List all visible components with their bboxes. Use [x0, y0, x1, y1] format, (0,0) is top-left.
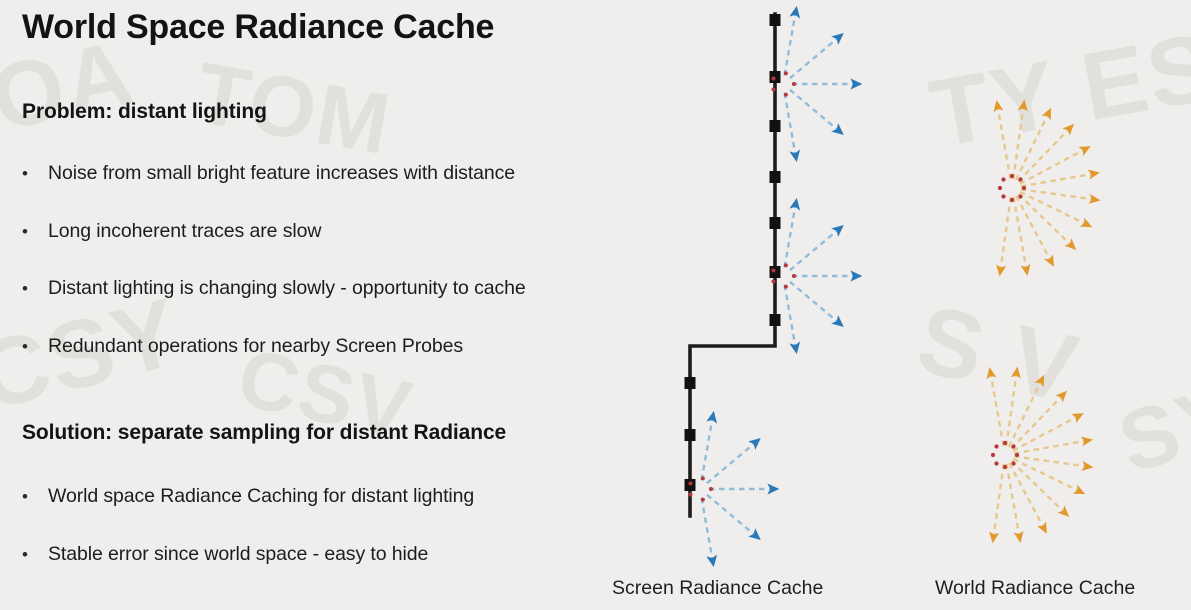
probe-dot [784, 93, 788, 97]
probe-dot [688, 482, 692, 486]
screen-radiance-ray [790, 34, 843, 78]
probe-dot [1018, 177, 1022, 181]
probe-dot [994, 444, 998, 448]
probe-dot [1003, 441, 1007, 445]
screen-radiance-ray [785, 199, 797, 267]
probe-dot [1001, 177, 1005, 181]
probe-dot [792, 82, 796, 86]
screen-radiance-ray [790, 90, 843, 134]
probe-dot [701, 498, 705, 502]
probe-dot [998, 186, 1002, 190]
world-radiance-ray [1011, 461, 1068, 516]
wall-outline [690, 14, 775, 516]
radiance-cache-diagram [0, 0, 1191, 610]
probe-dot [771, 280, 775, 284]
world-radiance-ray [997, 101, 1011, 179]
probe-dot [792, 274, 796, 278]
probe-dot [1010, 198, 1014, 202]
probe-dot [1010, 174, 1014, 178]
screen-radiance-ray [785, 285, 797, 353]
screen-radiance-ray [790, 282, 843, 326]
wall-probe-marker [770, 266, 781, 278]
probe-dot [784, 71, 788, 75]
probe-dot [771, 88, 775, 92]
wall-probe-marker [685, 429, 696, 441]
slide-root: OA TOM CSY CSV TY ES S V SY World Space … [0, 0, 1191, 610]
world-radiance-ray [1014, 197, 1028, 275]
probe-dot [1022, 186, 1026, 190]
caption-world-radiance-cache: World Radiance Cache [935, 577, 1135, 600]
wall-probe-marker [770, 120, 781, 132]
screen-radiance-ray [785, 93, 797, 161]
probe-dot [1015, 453, 1019, 457]
probe-dot [991, 453, 995, 457]
probe-dot [1011, 461, 1015, 465]
screen-radiance-ray [702, 412, 714, 480]
probe-dot [784, 263, 788, 267]
world-radiance-ray [1011, 392, 1066, 449]
world-radiance-ray [1021, 173, 1099, 187]
world-radiance-ray [1018, 125, 1073, 182]
screen-radiance-ray [707, 439, 760, 483]
caption-screen-radiance-cache: Screen Radiance Cache [612, 577, 823, 600]
wall-probe-marker [770, 14, 781, 26]
screen-radiance-ray [707, 495, 760, 539]
probe-dot [1001, 194, 1005, 198]
probe-dot [1011, 444, 1015, 448]
probe-dot [1003, 465, 1007, 469]
world-radiance-ray [1007, 464, 1021, 542]
screen-radiance-ray [785, 7, 797, 75]
probe-dot [994, 461, 998, 465]
wall-probe-marker [770, 171, 781, 183]
probe-dot [688, 493, 692, 497]
probe-dots [688, 71, 1026, 501]
world-radiance-ray [990, 368, 1004, 446]
probe-dot [1018, 194, 1022, 198]
world-radiance-ray [1000, 197, 1011, 275]
wall-probe-marker [770, 314, 781, 326]
wall-probe-marker [685, 377, 696, 389]
screen-radiance-ray [702, 498, 714, 566]
probe-dot [771, 269, 775, 273]
probe-dot [784, 285, 788, 289]
world-radiance-ray [1018, 194, 1075, 249]
probe-dot [701, 476, 705, 480]
probe-dot [709, 487, 713, 491]
wall-probe-marker [770, 71, 781, 83]
radiance-rays [702, 7, 1100, 566]
world-radiance-ray [993, 464, 1004, 542]
probe-dot [771, 77, 775, 81]
wall-probe-marker [770, 217, 781, 229]
screen-radiance-ray [790, 226, 843, 270]
wall-geometry [685, 14, 781, 516]
world-radiance-ray [1014, 440, 1092, 454]
